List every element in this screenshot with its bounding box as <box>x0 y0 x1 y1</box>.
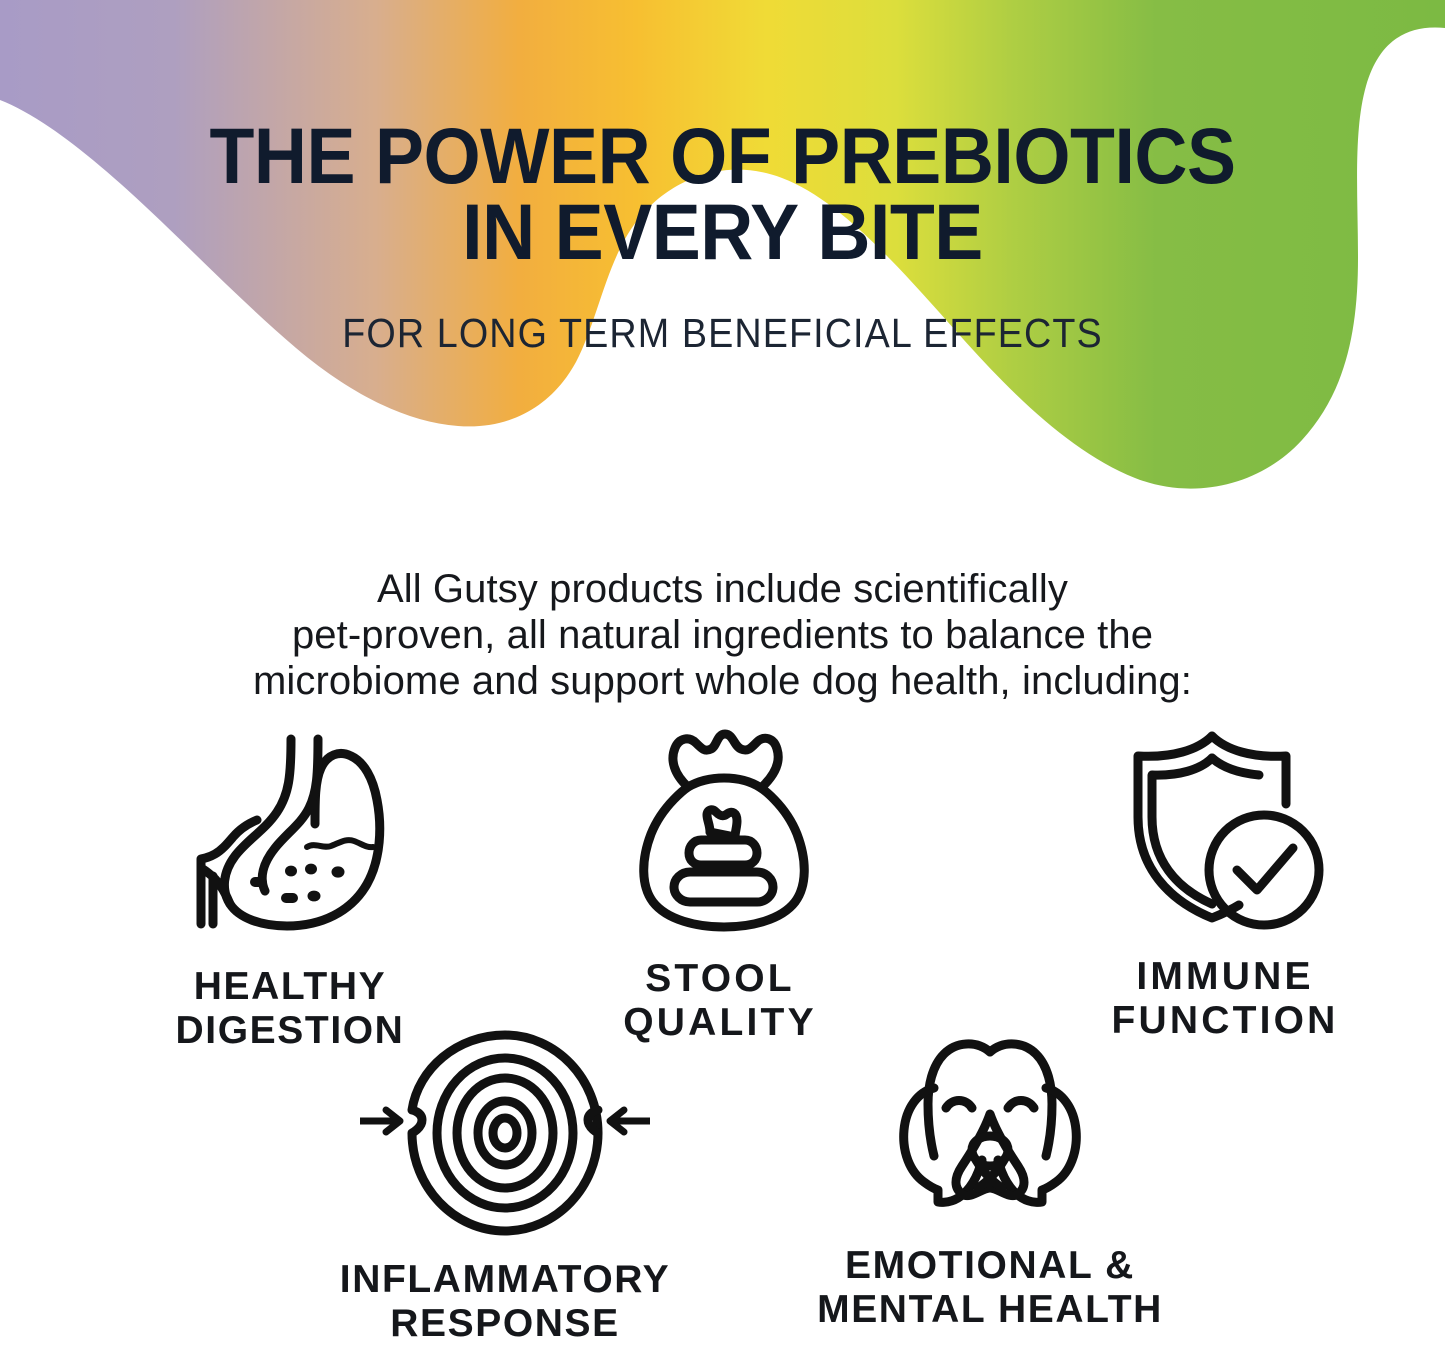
benefit-stool-quality: STOOL QUALITY <box>520 722 920 1045</box>
stomach-icon <box>181 728 399 943</box>
shield-check-icon <box>1118 722 1333 937</box>
banner-wave-shape <box>0 0 1445 560</box>
benefit-label: EMOTIONAL & MENTAL HEALTH <box>740 1244 1240 1332</box>
intro-line-3: microbiome and support whole dog health,… <box>0 658 1445 704</box>
intro-line-2: pet-proven, all natural ingredients to b… <box>0 612 1445 658</box>
infographic-page: THE POWER OF PREBIOTICS IN EVERY BITE FO… <box>0 0 1445 1349</box>
concentric-rings-arrows-icon <box>360 1025 650 1240</box>
benefit-emotional-mental-health: EMOTIONAL & MENTAL HEALTH <box>740 1030 1240 1332</box>
dog-face-icon <box>890 1030 1090 1230</box>
intro-line-1: All Gutsy products include scientificall… <box>0 566 1445 612</box>
benefit-inflammatory-response: INFLAMMATORY RESPONSE <box>255 1025 755 1346</box>
gradient-wave-banner: THE POWER OF PREBIOTICS IN EVERY BITE FO… <box>0 0 1445 560</box>
poop-bag-icon <box>625 722 815 937</box>
benefit-label: INFLAMMATORY RESPONSE <box>255 1258 755 1346</box>
benefit-healthy-digestion: HEALTHY DIGESTION <box>60 728 520 1053</box>
benefit-immune-function: IMMUNE FUNCTION <box>1010 722 1440 1043</box>
intro-paragraph: All Gutsy products include scientificall… <box>0 566 1445 704</box>
